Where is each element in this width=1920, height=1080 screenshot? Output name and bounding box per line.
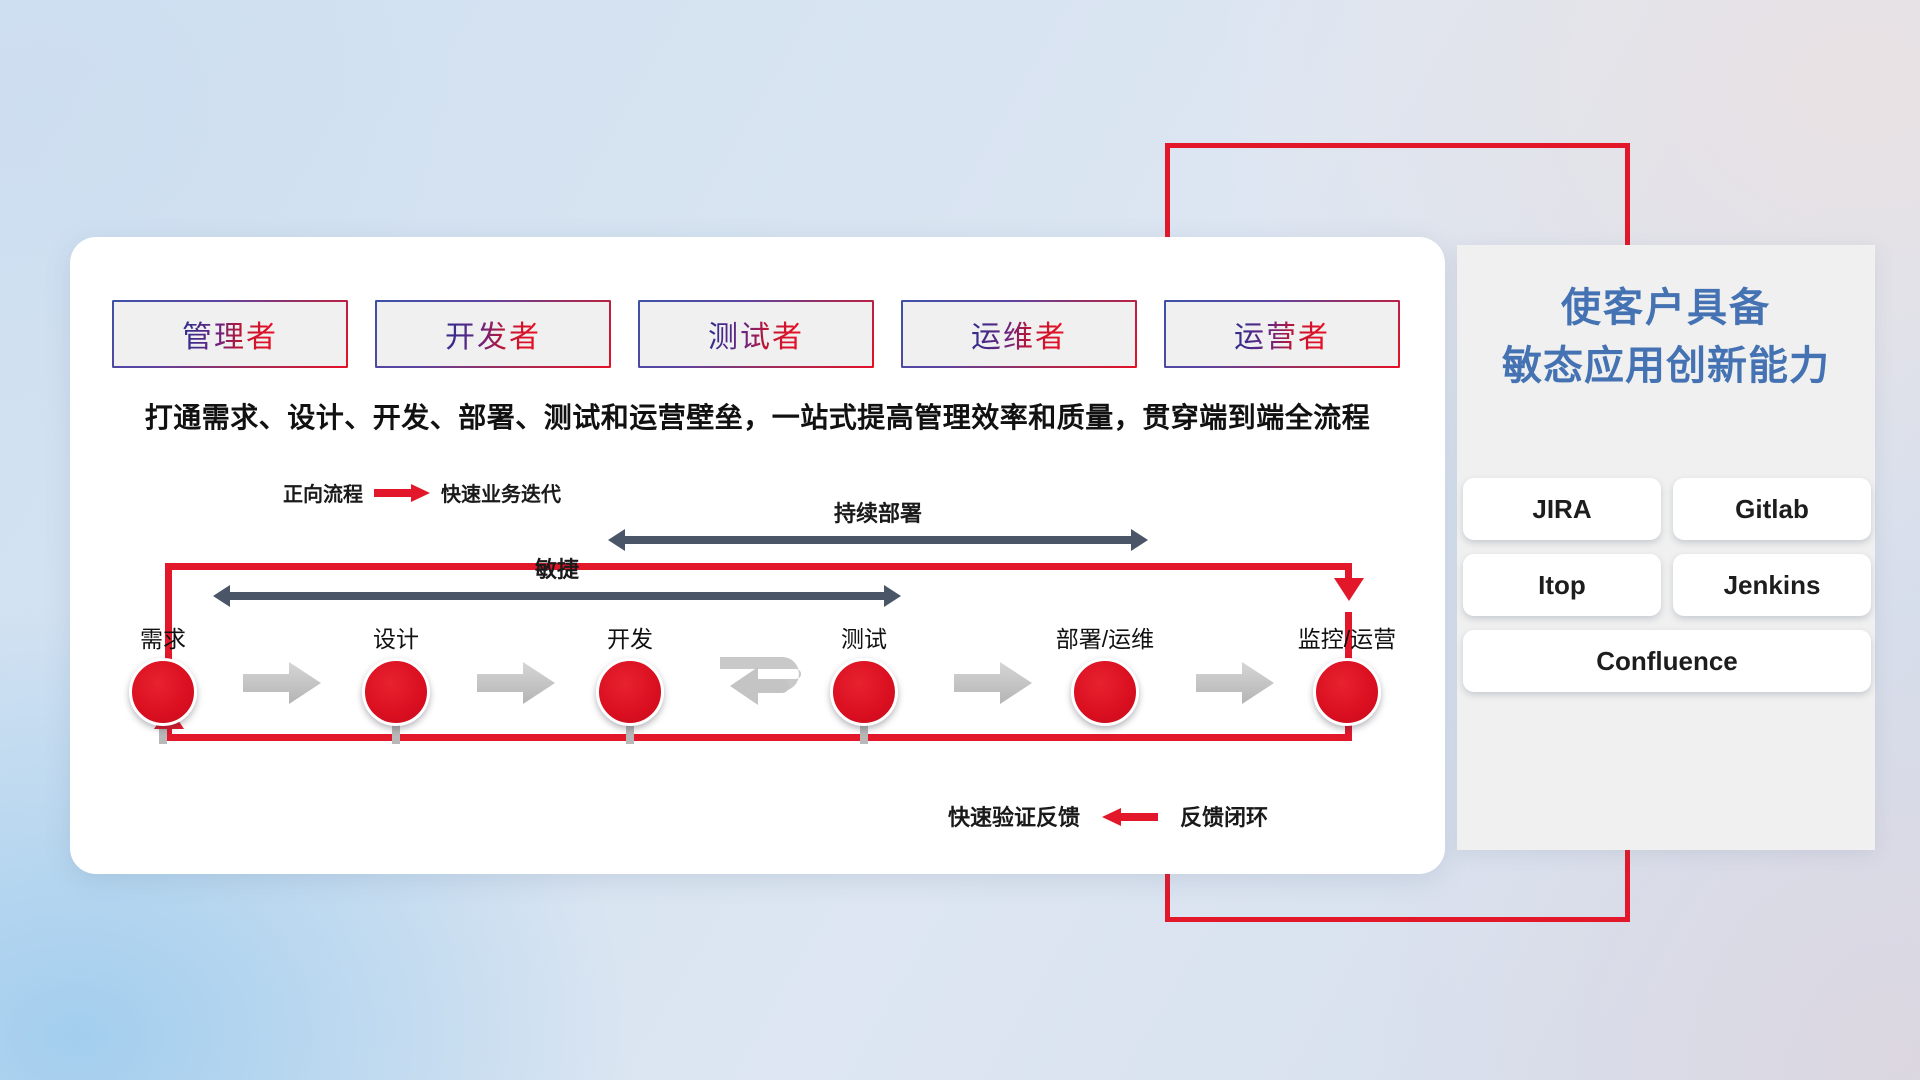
- stage-design[interactable]: 设计: [321, 620, 471, 726]
- role-label: 运维者: [971, 312, 1067, 356]
- forward-flow-right-label: 快速业务迭代: [441, 478, 561, 507]
- stage-develop[interactable]: 开发: [555, 620, 705, 726]
- feedback-loop-arrow-down-icon: [1334, 578, 1364, 601]
- stage-circle[interactable]: [362, 658, 430, 726]
- stage-deploy-ops[interactable]: 部署/运维: [1030, 620, 1180, 726]
- tool-pill-jenkins[interactable]: Jenkins: [1673, 554, 1871, 616]
- role-box-row: 管理者 开发者 测试者 运维者 运营者: [112, 300, 1400, 368]
- stage-label: 测试: [789, 620, 939, 654]
- block-arrow-right-icon: [477, 662, 555, 704]
- tool-pill-jira[interactable]: JIRA: [1463, 478, 1661, 540]
- panel-heading-line2: 敏态应用创新能力: [1457, 338, 1875, 396]
- stage-requirement[interactable]: 需求: [88, 620, 238, 726]
- loop-arrow-icon: [718, 655, 818, 722]
- stage-circle[interactable]: [596, 658, 664, 726]
- forward-flow-left-label: 正向流程: [283, 478, 363, 507]
- role-box-manager[interactable]: 管理者: [112, 300, 348, 368]
- bracket-bottom-segment: [1165, 917, 1630, 922]
- arrow-head-left: [608, 529, 625, 551]
- role-label: 开发者: [445, 312, 541, 356]
- role-box-developer[interactable]: 开发者: [375, 300, 611, 368]
- bracket-bottom-right-segment: [1625, 848, 1630, 922]
- arrow-head-right: [884, 585, 901, 607]
- tool-pill-itop[interactable]: Itop: [1463, 554, 1661, 616]
- tool-grid: JIRA Gitlab Itop Jenkins Confluence: [1463, 478, 1871, 692]
- tool-pill-confluence[interactable]: Confluence: [1463, 630, 1871, 692]
- arrow-bar: [229, 592, 885, 600]
- role-box-operator[interactable]: 运营者: [1164, 300, 1400, 368]
- forward-flow-legend: 正向流程 快速业务迭代: [283, 478, 561, 507]
- bracket-top-segment: [1165, 143, 1630, 148]
- arrow-bar: [624, 536, 1132, 544]
- continuous-deployment-label: 持续部署: [608, 496, 1148, 528]
- stage-label: 设计: [321, 620, 471, 654]
- feedback-left-label: 快速验证反馈: [948, 800, 1080, 832]
- agile-label: 敏捷: [213, 552, 901, 584]
- tool-pill-gitlab[interactable]: Gitlab: [1673, 478, 1871, 540]
- feedback-loop-bottom: [165, 734, 1352, 741]
- arrow-head-left: [213, 585, 230, 607]
- role-box-ops[interactable]: 运维者: [901, 300, 1137, 368]
- role-label: 管理者: [182, 312, 278, 356]
- stage-label: 需求: [88, 620, 238, 654]
- stage-circle[interactable]: [830, 658, 898, 726]
- role-label: 测试者: [708, 312, 804, 356]
- agile-arrow-icon: [213, 585, 901, 607]
- stage-circle[interactable]: [129, 658, 197, 726]
- feedback-legend: 快速验证反馈 反馈闭环: [948, 800, 1268, 832]
- stage-label: 开发: [555, 620, 705, 654]
- role-box-tester[interactable]: 测试者: [638, 300, 874, 368]
- description-text: 打通需求、设计、开发、部署、测试和运营壁垒，一站式提高管理效率和质量，贯穿端到端…: [70, 396, 1445, 436]
- stage-circle[interactable]: [1313, 658, 1381, 726]
- block-arrow-right-icon: [1196, 662, 1274, 704]
- stage-label: 监控/运营: [1272, 620, 1422, 654]
- block-arrow-right-icon: [243, 662, 321, 704]
- feedback-right-label: 反馈闭环: [1180, 800, 1268, 832]
- stage-monitor-operate[interactable]: 监控/运营: [1272, 620, 1422, 726]
- continuous-deployment-arrow-icon: [608, 529, 1148, 551]
- stage-circle[interactable]: [1071, 658, 1139, 726]
- role-label: 运营者: [1234, 312, 1330, 356]
- red-arrow-right-icon: [374, 484, 430, 501]
- arrow-head-right: [1131, 529, 1148, 551]
- red-arrow-left-icon: [1102, 808, 1158, 825]
- stage-label: 部署/运维: [1030, 620, 1180, 654]
- block-arrow-right-icon: [954, 662, 1032, 704]
- panel-heading: 使客户具备 敏态应用创新能力: [1457, 280, 1875, 395]
- panel-heading-line1: 使客户具备: [1457, 280, 1875, 338]
